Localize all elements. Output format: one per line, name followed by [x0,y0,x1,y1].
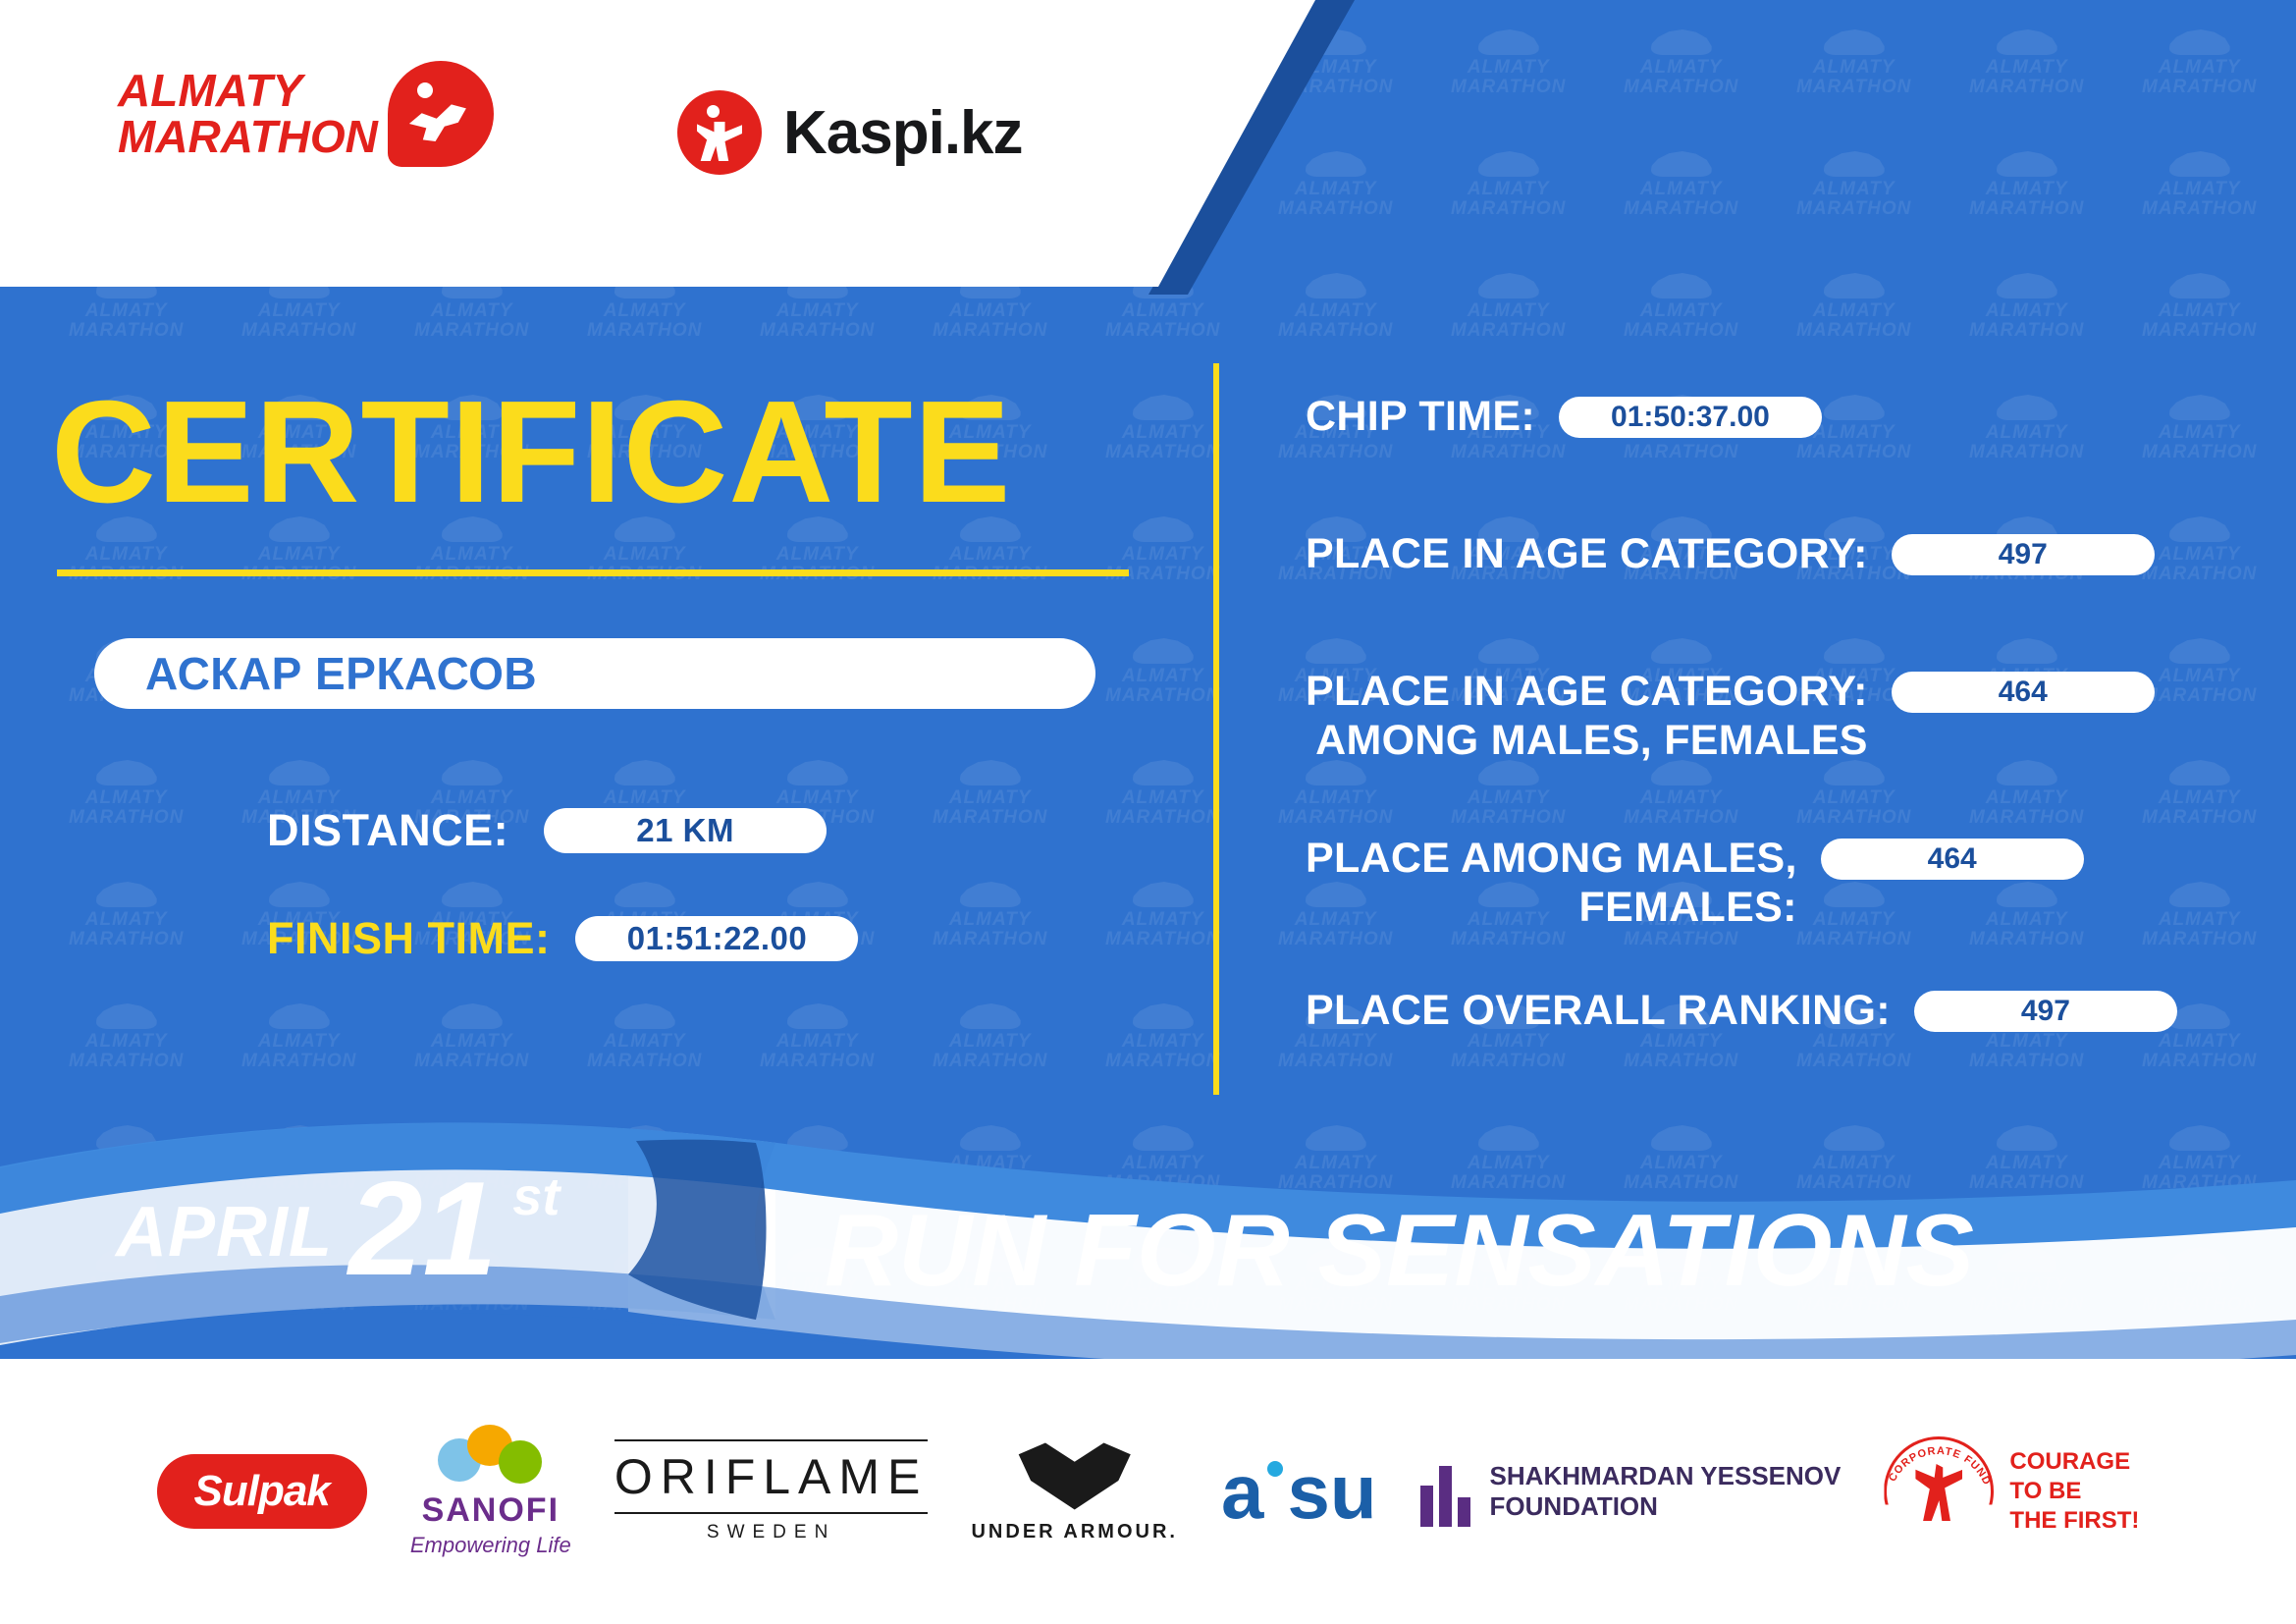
place-among-gender-value: 464 [1821,839,2084,880]
event-slogan: RUN FOR SENSATIONS [825,1193,1974,1310]
place-age-category-gender-label-line1: PLACE IN AGE CATEGORY: [1306,668,1868,717]
sponsor-courage-line1: COURAGE [2009,1447,2139,1477]
place-age-category-gender-label: PLACE IN AGE CATEGORY: AMONG MALES, FEMA… [1306,668,1868,766]
place-overall-value: 497 [1914,991,2177,1032]
svg-text:CORPORATE FUND: CORPORATE FUND [1887,1445,1993,1488]
watermark-mark: ALMATYMARATHON [2142,273,2257,341]
kaspi-runner-icon [677,90,762,175]
sponsor-sanofi-tagline: Empowering Life [410,1533,571,1558]
sponsor-asu: a su [1221,1453,1376,1530]
athlete-name-value: АСКАР ЕРКАСОВ [145,647,537,700]
watermark-mark: ALMATYMARATHON [1105,882,1220,949]
watermark-mark: ALMATYMARATHON [1624,760,1738,828]
finish-time-value: 01:51:22.00 [575,916,858,961]
watermark-mark: ALMATYMARATHON [760,1003,875,1071]
watermark-mark: ALMATYMARATHON [1278,273,1393,341]
almaty-logo-line2: MARATHON [118,114,378,160]
distance-value: 21 KM [544,808,827,853]
watermark-mark: ALMATYMARATHON [1451,151,1566,219]
courage-arc-text: CORPORATE FUND [1878,1433,2000,1554]
sponsor-courage-line2: TO BE [2009,1477,2139,1506]
watermark-mark: ALMATYMARATHON [1796,760,1911,828]
asu-dot-icon [1267,1461,1283,1477]
kaspi-logo-label: Kaspi.kz [783,98,1023,168]
watermark-mark: ALMATYMARATHON [1451,273,1566,341]
sponsor-asu-label-a: a [1221,1453,1263,1530]
result-row-place-among-gender: PLACE AMONG MALES, FEMALES: 464 [1306,835,2084,933]
place-among-gender-label-line2: FEMALES: [1306,884,1797,933]
event-month: APRIL [116,1192,333,1286]
sponsor-under-armour: UNDER ARMOUR. [971,1440,1177,1543]
kaspi-logo: Kaspi.kz [677,90,1023,175]
sponsor-sanofi-label: SANOFI [410,1491,571,1530]
finish-time-row: FINISH TIME: 01:51:22.00 [267,913,858,964]
place-age-category-value: 497 [1892,534,2155,575]
watermark-mark: ALMATYMARATHON [1278,151,1393,219]
place-among-gender-label-line1: PLACE AMONG MALES, [1306,835,1797,884]
watermark-mark: ALMATYMARATHON [2142,882,2257,949]
watermark-mark: ALMATYMARATHON [1796,29,1911,97]
watermark-mark: ALMATYMARATHON [933,760,1047,828]
watermark-mark: ALMATYMARATHON [1969,395,2084,462]
watermark-mark: ALMATYMARATHON [1105,760,1220,828]
watermark-mark: ALMATYMARATHON [1451,760,1566,828]
watermark-mark: ALMATYMARATHON [1969,273,2084,341]
watermark-mark: ALMATYMARATHON [2142,395,2257,462]
watermark-mark: ALMATYMARATHON [2142,760,2257,828]
place-age-category-gender-value: 464 [1892,672,2155,713]
result-row-chip-time: CHIP TIME: 01:50:37.00 [1306,393,1822,442]
watermark-mark: ALMATYMARATHON [1105,1003,1220,1071]
chip-time-value: 01:50:37.00 [1559,397,1822,438]
watermark-mark: ALMATYMARATHON [414,1003,529,1071]
watermark-mark: ALMATYMARATHON [1105,638,1220,706]
distance-label: DISTANCE: [267,805,508,856]
watermark-mark: ALMATYMARATHON [1969,760,2084,828]
sponsor-oriflame-sub: SWEDEN [614,1522,929,1543]
watermark-mark: ALMATYMARATHON [1796,273,1911,341]
watermark-mark: ALMATYMARATHON [1624,151,1738,219]
watermark-mark: ALMATYMARATHON [69,882,184,949]
watermark-mark: ALMATYMARATHON [1278,760,1393,828]
sponsor-sanofi: SANOFI Empowering Life [410,1425,571,1558]
sponsor-oriflame-label: ORIFLAME [614,1439,929,1514]
watermark-mark: ALMATYMARATHON [1105,395,1220,462]
event-date: APRIL 21 st [116,1166,560,1286]
watermark-mark: ALMATYMARATHON [1451,29,1566,97]
sponsor-footer: Sulpak SANOFI Empowering Life ORIFLAME S… [0,1359,2296,1624]
place-age-category-label: PLACE IN AGE CATEGORY: [1306,530,1868,579]
page-title: CERTIFICATE [51,369,1011,536]
watermark-mark: ALMATYMARATHON [1796,151,1911,219]
sponsor-sulpak-label: Sulpak [157,1454,367,1529]
watermark-mark: ALMATYMARATHON [69,760,184,828]
watermark-mark: ALMATYMARATHON [1624,273,1738,341]
distance-row: DISTANCE: 21 KM [267,805,827,856]
place-among-gender-label: PLACE AMONG MALES, FEMALES: [1306,835,1797,933]
sponsor-shakhmardan-yessenov-foundation: SHAKHMARDAN YESSENOV FOUNDATION [1420,1456,1842,1527]
sanofi-logo-icon [438,1425,544,1486]
certificate-page: ALMATYMARATHONALMATYMARATHONALMATYMARATH… [0,0,2296,1624]
watermark-mark: ALMATYMARATHON [69,1003,184,1071]
courage-fund-logo-icon: CORPORATE FUND [1884,1436,1994,1546]
sponsor-asu-label-su: su [1287,1453,1376,1530]
runner-icon [388,61,494,167]
chip-time-label: CHIP TIME: [1306,393,1535,442]
watermark-mark: ALMATYMARATHON [2142,151,2257,219]
athlete-name-field: АСКАР ЕРКАСОВ [94,638,1095,709]
almaty-logo-line1: ALMATY [118,68,378,114]
sponsor-courage-to-be-the-first: CORPORATE FUND COURAGE TO BE THE FIRST! [1884,1436,2139,1546]
sponsor-sulpak: Sulpak [157,1454,367,1529]
result-row-place-overall: PLACE OVERALL RANKING: 497 [1306,987,2177,1036]
watermark-mark: ALMATYMARATHON [1624,29,1738,97]
title-divider [57,569,1129,576]
watermark-mark: ALMATYMARATHON [933,882,1047,949]
place-overall-label: PLACE OVERALL RANKING: [1306,987,1891,1036]
column-divider [1213,363,1219,1095]
event-day-suffix: st [512,1166,560,1286]
sponsor-yessenov-line2: FOUNDATION [1490,1491,1842,1522]
watermark-mark: ALMATYMARATHON [2142,516,2257,584]
sponsor-yessenov-line1: SHAKHMARDAN YESSENOV [1490,1461,1842,1491]
result-row-place-age-category: PLACE IN AGE CATEGORY: 497 [1306,530,2155,579]
event-day: 21 [348,1171,497,1286]
watermark-mark: ALMATYMARATHON [933,1003,1047,1071]
watermark-mark: ALMATYMARATHON [587,1003,702,1071]
almaty-marathon-logo: ALMATY MARATHON [118,61,494,167]
place-age-category-gender-label-line2: AMONG MALES, FEMALES [1306,717,1868,766]
sponsor-under-armour-label: UNDER ARMOUR. [971,1521,1177,1543]
under-armour-logo-icon [1014,1440,1136,1513]
watermark-mark: ALMATYMARATHON [2142,29,2257,97]
result-row-place-age-category-gender: PLACE IN AGE CATEGORY: AMONG MALES, FEMA… [1306,668,2155,766]
sponsor-courage-line3: THE FIRST! [2009,1506,2139,1536]
watermark-mark: ALMATYMARATHON [1969,29,2084,97]
watermark-mark: ALMATYMARATHON [1969,151,2084,219]
watermark-mark: ALMATYMARATHON [241,1003,356,1071]
watermark-mark: ALMATYMARATHON [2142,638,2257,706]
finish-time-label: FINISH TIME: [267,913,550,964]
sponsor-oriflame: ORIFLAME SWEDEN [614,1439,929,1543]
yessenov-logo-icon [1420,1456,1470,1527]
